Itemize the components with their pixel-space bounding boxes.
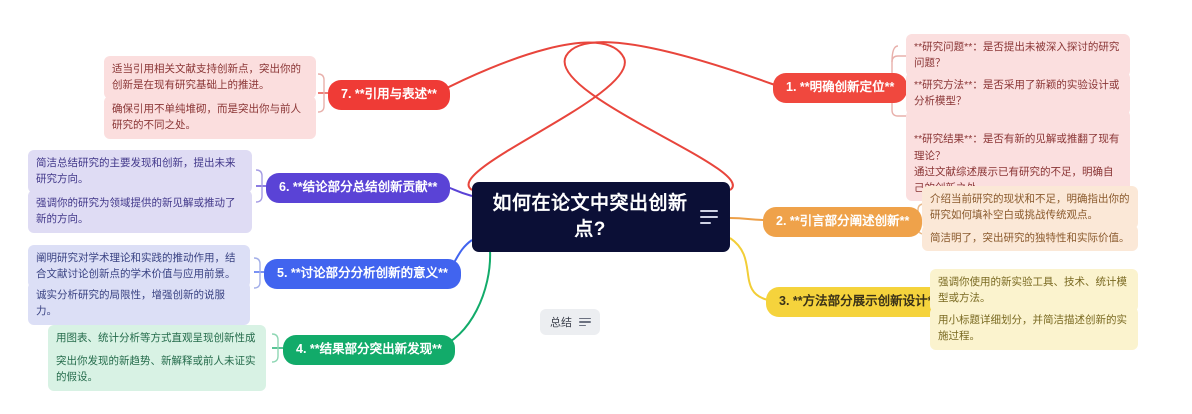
branch-pill-7[interactable]: 7. **引用与表述** [328,80,450,110]
leaf-card-3-1[interactable]: 强调你使用的新实验工具、技术、统计模型或方法。 [930,269,1138,312]
mindmap-canvas: 如何在论文中突出创新点? 总结 1. **明确创新定位** **研究问题**：是… [0,0,1192,414]
branch-label-7: 7. **引用与表述** [341,87,437,103]
branch-label-2: 2. **引言部分阐述创新** [776,214,909,230]
branch-pill-3[interactable]: 3. **方法部分展示创新设计** [766,287,950,317]
leaf-text: 突出你发现的新趋势、新解释或前人未证实的假设。 [56,355,256,383]
branch-pill-2[interactable]: 2. **引言部分阐述创新** [763,207,922,237]
leaf-card-7-2[interactable]: 确保引用不单纯堆砌，而是突出你与前人研究的不同之处。 [104,96,316,139]
leaf-text: 阐明研究对学术理论和实践的推动作用，结合文献讨论创新点的学术价值与应用前景。 [36,252,236,280]
branch-label-1: 1. **明确创新定位** [786,80,894,96]
branch-pill-1[interactable]: 1. **明确创新定位** [773,73,907,103]
branch-pill-4[interactable]: 4. **结果部分突出新发现** [283,335,455,365]
leaf-card-5-2[interactable]: 诚实分析研究的局限性，增强创新的说服力。 [28,282,250,325]
branch-label-6: 6. **结论部分总结创新贡献** [279,180,437,196]
summary-label: 总结 [550,314,572,330]
list-lines-icon[interactable] [700,210,718,224]
leaf-text: 适当引用相关文献支持创新点，突出你的创新是在现有研究基础上的推进。 [112,63,301,91]
leaf-text: **研究问题**：是否提出未被深入探讨的研究问题？ [914,41,1119,69]
branch-label-4: 4. **结果部分突出新发现** [296,342,442,358]
leaf-card-4-2[interactable]: 突出你发现的新趋势、新解释或前人未证实的假设。 [48,348,266,391]
branch-label-3: 3. **方法部分展示创新设计** [779,294,937,310]
summary-node[interactable]: 总结 [540,309,600,335]
branch-pill-6[interactable]: 6. **结论部分总结创新贡献** [266,173,450,203]
leaf-text: 用小标题详细划分，并简洁描述创新的实施过程。 [938,314,1127,342]
leaf-card-2-2[interactable]: 简洁明了，突出研究的独特性和实际价值。 [922,225,1138,251]
leaf-text: **研究结果**：是否有新的见解或推翻了现有理论？ 通过文献综述展示已有研究的不… [914,133,1119,194]
leaf-text: 诚实分析研究的局限性，增强创新的说服力。 [36,289,225,317]
branch-pill-5[interactable]: 5. **讨论部分分析创新的意义** [264,259,461,289]
leaf-card-7-1[interactable]: 适当引用相关文献支持创新点，突出你的创新是在现有研究基础上的推进。 [104,56,316,99]
leaf-card-6-1[interactable]: 简洁总结研究的主要发现和创新，提出未来研究方向。 [28,150,252,193]
leaf-text: 确保引用不单纯堆砌，而是突出你与前人研究的不同之处。 [112,103,301,131]
leaf-text: 强调你使用的新实验工具、技术、统计模型或方法。 [938,276,1127,304]
leaf-card-3-2[interactable]: 用小标题详细划分，并简洁描述创新的实施过程。 [930,307,1138,350]
leaf-text: 强调你的研究为领域提供的新见解或推动了新的方向。 [36,197,236,225]
root-title: 如何在论文中突出创新点? [490,191,690,242]
leaf-text: 介绍当前研究的现状和不足，明确指出你的研究如何填补空白或挑战传统观点。 [930,193,1130,221]
leaf-text: 简洁总结研究的主要发现和创新，提出未来研究方向。 [36,157,236,185]
list-lines-icon [579,318,591,327]
leaf-card-1-1[interactable]: **研究问题**：是否提出未被深入探讨的研究问题？ [906,34,1130,77]
leaf-card-1-2[interactable]: **研究方法**：是否采用了新颖的实验设计或分析模型？ [906,72,1130,115]
leaf-text: 简洁明了，突出研究的独特性和实际价值。 [930,232,1130,244]
branch-label-5: 5. **讨论部分分析创新的意义** [277,266,448,282]
root-node[interactable]: 如何在论文中突出创新点? [472,182,730,252]
leaf-text: **研究方法**：是否采用了新颖的实验设计或分析模型？ [914,79,1119,107]
leaf-card-2-1[interactable]: 介绍当前研究的现状和不足，明确指出你的研究如何填补空白或挑战传统观点。 [922,186,1138,229]
leaf-card-6-2[interactable]: 强调你的研究为领域提供的新见解或推动了新的方向。 [28,190,252,233]
